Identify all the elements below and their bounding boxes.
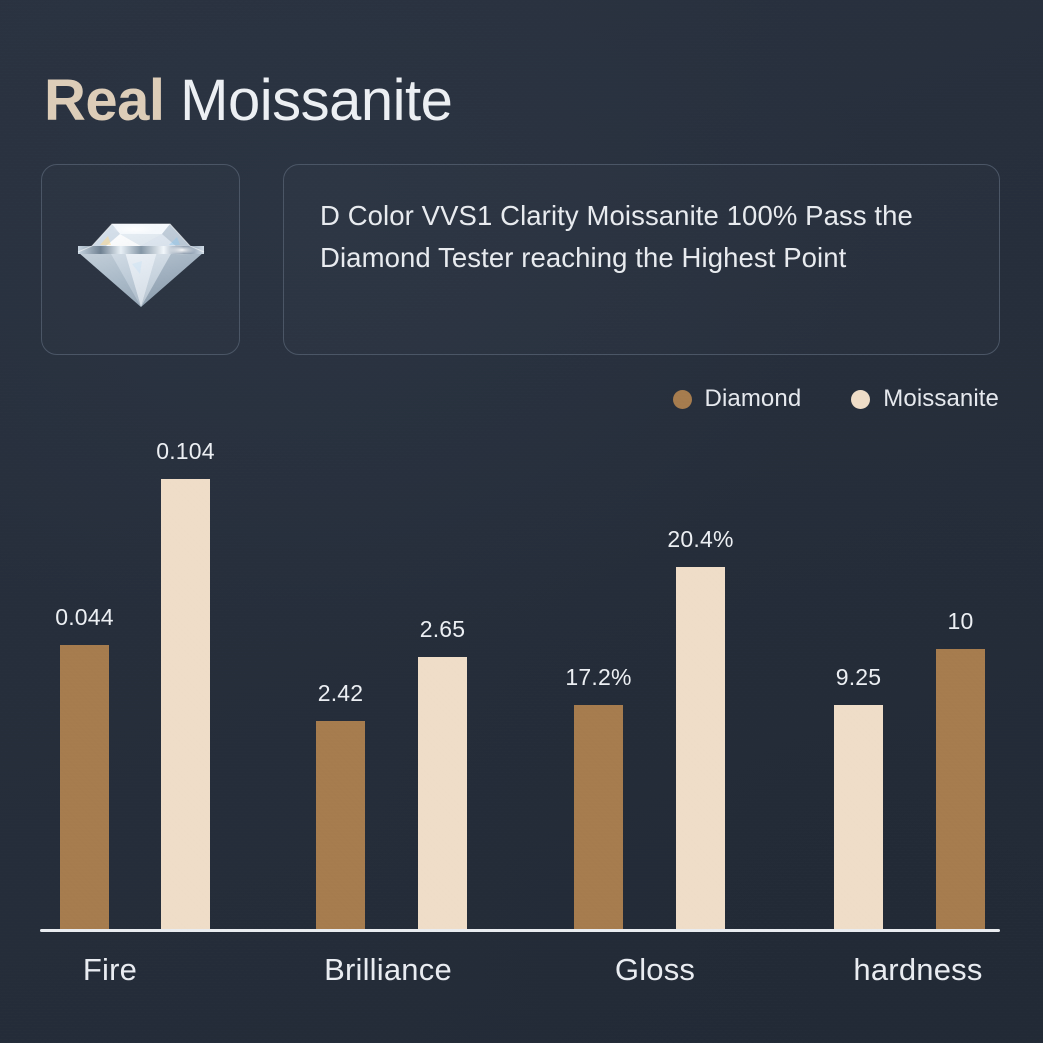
bar-value-label: 10 <box>948 608 974 635</box>
bar-hardness-diamond[interactable]: 10 <box>936 649 985 929</box>
category-label-fire: Fire <box>83 952 137 988</box>
bar-fire-diamond[interactable]: 0.044 <box>60 645 109 929</box>
bar-brilliance-diamond[interactable]: 2.42 <box>316 721 365 929</box>
bar-value-label: 2.42 <box>318 680 364 707</box>
bar-gloss-moissanite[interactable]: 20.4% <box>676 567 725 929</box>
category-label-hardness: hardness <box>853 952 982 988</box>
poster-canvas: Real Moissanite <box>0 0 1043 1043</box>
bar-hardness-moissanite[interactable]: 9.25 <box>834 705 883 929</box>
comparison-bar-chart: 0.0440.1042.422.6517.2%20.4%9.2510 FireB… <box>0 0 1043 1043</box>
bar-gloss-diamond[interactable]: 17.2% <box>574 705 623 929</box>
bar-value-label: 20.4% <box>667 526 733 553</box>
x-axis-line <box>40 929 1000 932</box>
bar-fire-moissanite[interactable]: 0.104 <box>161 479 210 929</box>
bar-value-label: 2.65 <box>420 616 466 643</box>
bar-value-label: 17.2% <box>565 664 631 691</box>
bar-value-label: 9.25 <box>836 664 882 691</box>
category-label-gloss: Gloss <box>615 952 695 988</box>
category-label-brilliance: Brilliance <box>324 952 452 988</box>
bar-value-label: 0.044 <box>55 604 114 631</box>
bar-value-label: 0.104 <box>156 438 215 465</box>
bar-brilliance-moissanite[interactable]: 2.65 <box>418 657 467 929</box>
